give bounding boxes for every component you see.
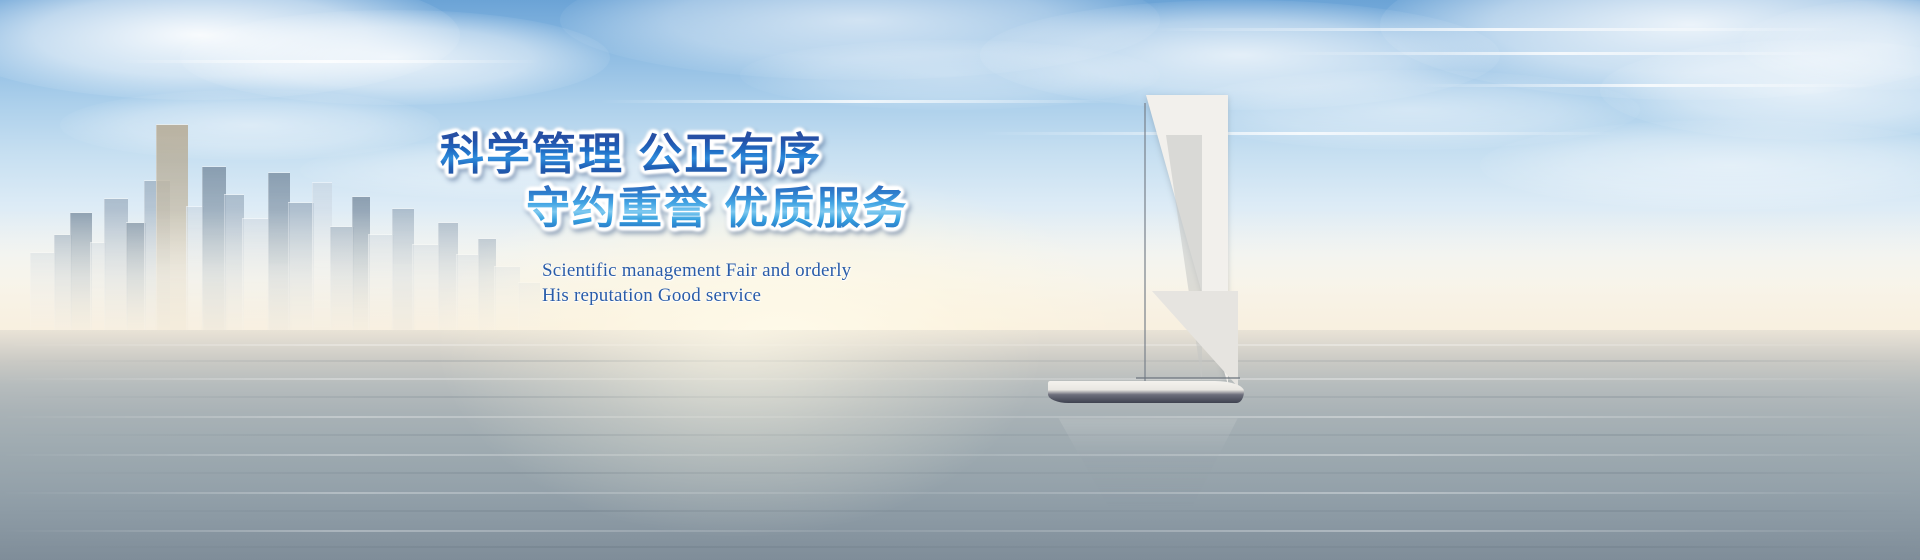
hull: [1048, 381, 1244, 403]
jib-sail: [1152, 291, 1238, 387]
cloud-icon: [180, 10, 610, 105]
sun-reflection-path: [430, 330, 1050, 540]
cloud-icon: [980, 0, 1500, 110]
headline-line-2: 守约重誉 优质服务: [526, 182, 980, 236]
headline-line-1: 科学管理 公正有序: [440, 128, 980, 182]
sailboat-icon: [1040, 95, 1270, 425]
cloud-streak: [1420, 84, 1880, 87]
cloud-icon: [1740, 0, 1920, 90]
subtitle-line-2: His reputation Good service: [542, 283, 980, 308]
cloud-streak: [1280, 52, 1840, 55]
subtitle-line-1: Scientific management Fair and orderly: [542, 258, 980, 283]
cloud-streak: [1150, 28, 1850, 31]
cloud-icon: [0, 0, 460, 100]
cloud-streak: [120, 60, 540, 63]
cloud-icon: [560, 0, 1160, 80]
cloud-icon: [1600, 40, 1920, 140]
banner-copy: 科学管理 公正有序 守约重誉 优质服务 Scientific managemen…: [440, 128, 980, 308]
hero-banner: 科学管理 公正有序 守约重誉 优质服务 Scientific managemen…: [0, 0, 1920, 560]
boom: [1136, 377, 1240, 379]
